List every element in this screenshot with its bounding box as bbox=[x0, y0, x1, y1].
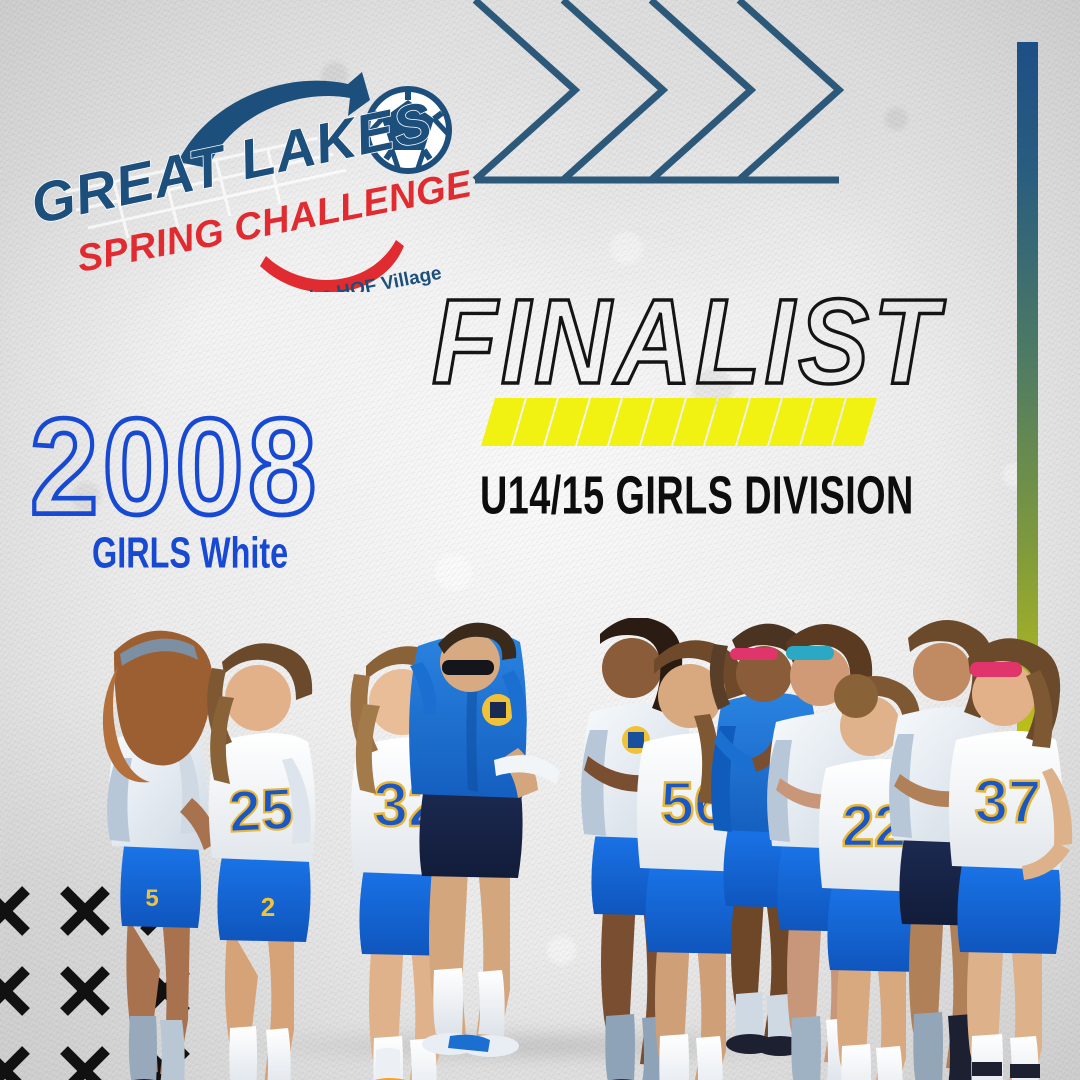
award-title: FINALIST bbox=[432, 282, 942, 403]
player-figure: 5 bbox=[103, 631, 218, 1080]
player-figure: 2 25 bbox=[207, 643, 315, 1080]
yellow-slash-divider bbox=[481, 398, 877, 446]
x-mark-icon bbox=[0, 970, 26, 1012]
tournament-logo: GREAT LAKES SPRING CHALLENGE At the HOF … bbox=[18, 42, 478, 292]
team-name: GIRLS White bbox=[92, 528, 288, 578]
chevron-decoration-group bbox=[455, 0, 975, 192]
x-mark-icon bbox=[0, 890, 26, 932]
x-mark-icon bbox=[0, 1050, 26, 1080]
svg-text:2: 2 bbox=[261, 892, 275, 922]
svg-text:25: 25 bbox=[227, 776, 295, 844]
team-photo: 5 2 25 bbox=[80, 618, 1080, 1080]
team-year: 2008 bbox=[30, 398, 321, 535]
svg-text:37: 37 bbox=[975, 768, 1042, 835]
svg-text:5: 5 bbox=[145, 885, 158, 912]
poster-canvas: GREAT LAKES SPRING CHALLENGE At the HOF … bbox=[0, 0, 1080, 1080]
division-label: U14/15 GIRLS DIVISION bbox=[480, 466, 914, 527]
chevron-right-icon bbox=[475, 0, 575, 180]
